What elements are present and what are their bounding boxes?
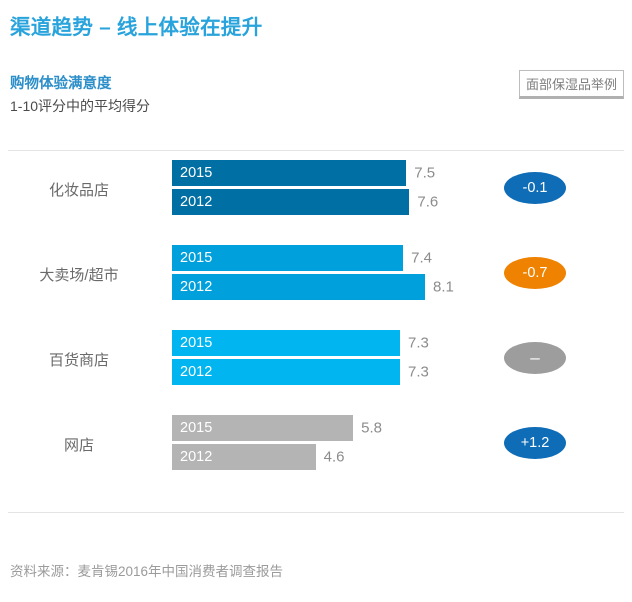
bar-value-label: 5.8 <box>361 420 382 437</box>
delta-badge-label: – <box>530 349 539 366</box>
bar: 2012 <box>172 444 316 470</box>
bar: 2012 <box>172 359 400 385</box>
chart-subtitle-secondary: 1-10评分中的平均得分 <box>10 97 150 116</box>
bar-year-label: 2015 <box>180 165 212 181</box>
delta-badge-label: +1.2 <box>521 435 550 451</box>
delta-badge: -0.7 <box>504 257 566 289</box>
chart-container: 渠道趋势 – 线上体验在提升 购物体验满意度 1-10评分中的平均得分 面部保湿… <box>0 0 632 602</box>
bar-year-label: 2015 <box>180 335 212 351</box>
bar-value-label: 4.6 <box>324 449 345 466</box>
bar-value-label: 8.1 <box>433 279 454 296</box>
delta-badge: +1.2 <box>504 427 566 459</box>
delta-badge-label: -0.7 <box>523 265 548 281</box>
delta-badge: -0.1 <box>504 172 566 204</box>
bar-group: 大卖场/超市20157.420128.1-0.7 <box>0 245 632 300</box>
plot-area: 化妆品店20157.520127.6-0.1大卖场/超市20157.420128… <box>0 160 632 505</box>
bar: 2015 <box>172 160 406 186</box>
bar-year-label: 2015 <box>180 420 212 436</box>
bar-year-label: 2012 <box>180 194 212 210</box>
subtitle-block: 购物体验满意度 1-10评分中的平均得分 <box>10 75 150 115</box>
bar-group: 化妆品店20157.520127.6-0.1 <box>0 160 632 215</box>
bar-group: 网店20155.820124.6+1.2 <box>0 415 632 470</box>
page-title: 渠道趋势 – 线上体验在提升 <box>10 10 263 40</box>
bar-value-label: 7.6 <box>417 194 438 211</box>
bar-value-label: 7.5 <box>414 165 435 182</box>
bar: 2012 <box>172 189 409 215</box>
divider-top <box>8 150 624 151</box>
bar-group: 百货商店20157.320127.3– <box>0 330 632 385</box>
bar-value-label: 7.3 <box>408 335 429 352</box>
delta-badge: – <box>504 342 566 374</box>
bar: 2015 <box>172 245 403 271</box>
category-label: 百货商店 <box>0 349 158 370</box>
chart-subtitle-primary: 购物体验满意度 <box>10 75 150 95</box>
bar-value-label: 7.3 <box>408 364 429 381</box>
bar-year-label: 2012 <box>180 449 212 465</box>
category-label: 大卖场/超市 <box>0 264 158 285</box>
bar-year-label: 2012 <box>180 279 212 295</box>
category-label: 网店 <box>0 434 158 455</box>
source-note: 资料来源：麦肯锡2016年中国消费者调查报告 <box>10 560 283 580</box>
delta-badge-label: -0.1 <box>523 180 548 196</box>
bar: 2015 <box>172 415 353 441</box>
bar: 2012 <box>172 274 425 300</box>
divider-bottom <box>8 512 624 513</box>
bar-year-label: 2012 <box>180 364 212 380</box>
bar: 2015 <box>172 330 400 356</box>
bar-year-label: 2015 <box>180 250 212 266</box>
example-callout-box: 面部保湿品举例 <box>519 70 624 99</box>
bar-value-label: 7.4 <box>411 250 432 267</box>
category-label: 化妆品店 <box>0 179 158 200</box>
